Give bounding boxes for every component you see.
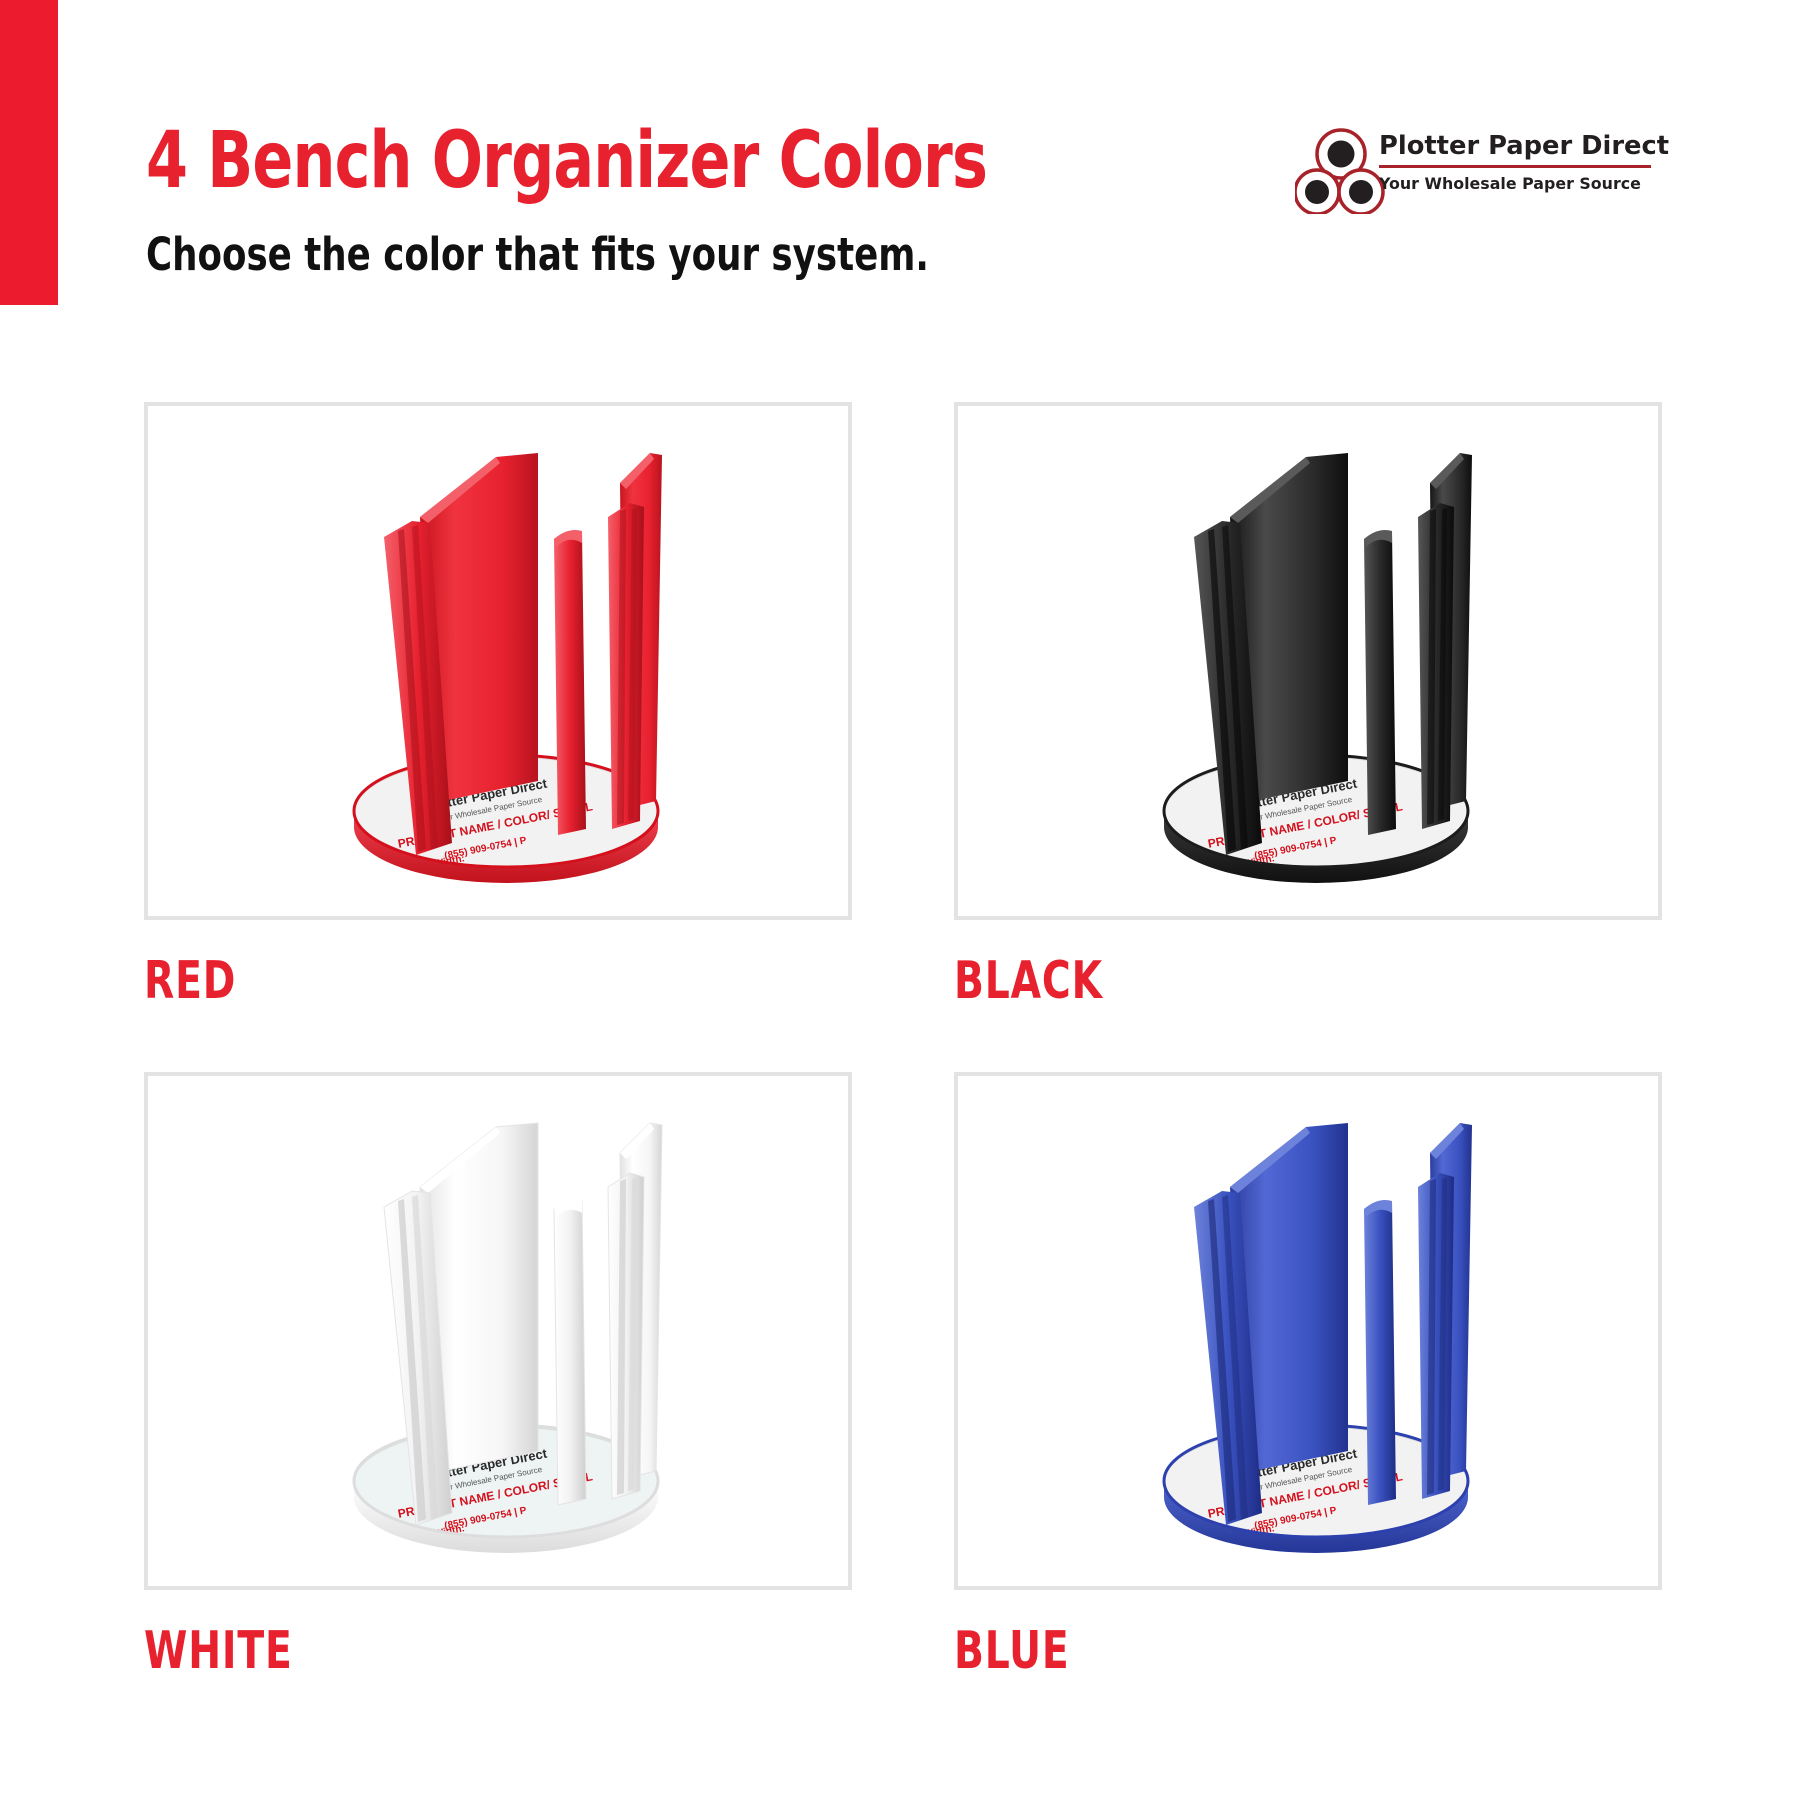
bench-organizer-white-photo: Plotter Paper Direct Your Wholesale Pape… bbox=[238, 1081, 758, 1581]
bench-organizer-black-photo: Plotter Paper Direct Your Wholesale Pape… bbox=[1048, 411, 1568, 911]
color-label-red: RED bbox=[144, 952, 739, 1010]
product-cell-black: Plotter Paper Direct Your Wholesale Pape… bbox=[954, 402, 1662, 1010]
product-color-grid: Plotter Paper Direct Your Wholesale Pape… bbox=[0, 0, 1800, 1801]
product-cell-white: Plotter Paper Direct Your Wholesale Pape… bbox=[144, 1072, 852, 1680]
bench-organizer-blue-photo: Plotter Paper Direct Your Wholesale Pape… bbox=[1048, 1081, 1568, 1581]
infographic-page: 4 Bench Organizer Colors Choose the colo… bbox=[0, 0, 1800, 1801]
color-label-white: WHITE bbox=[144, 1622, 739, 1680]
product-cell-blue: Plotter Paper Direct Your Wholesale Pape… bbox=[954, 1072, 1662, 1680]
color-label-blue: BLUE bbox=[954, 1622, 1549, 1680]
product-cell-red: Plotter Paper Direct Your Wholesale Pape… bbox=[144, 402, 852, 1010]
color-label-black: BLACK bbox=[954, 952, 1549, 1010]
product-image-frame-white: Plotter Paper Direct Your Wholesale Pape… bbox=[144, 1072, 852, 1590]
product-image-frame-black: Plotter Paper Direct Your Wholesale Pape… bbox=[954, 402, 1662, 920]
bench-organizer-red-photo: Plotter Paper Direct Your Wholesale Pape… bbox=[238, 411, 758, 911]
product-image-frame-red: Plotter Paper Direct Your Wholesale Pape… bbox=[144, 402, 852, 920]
product-image-frame-blue: Plotter Paper Direct Your Wholesale Pape… bbox=[954, 1072, 1662, 1590]
